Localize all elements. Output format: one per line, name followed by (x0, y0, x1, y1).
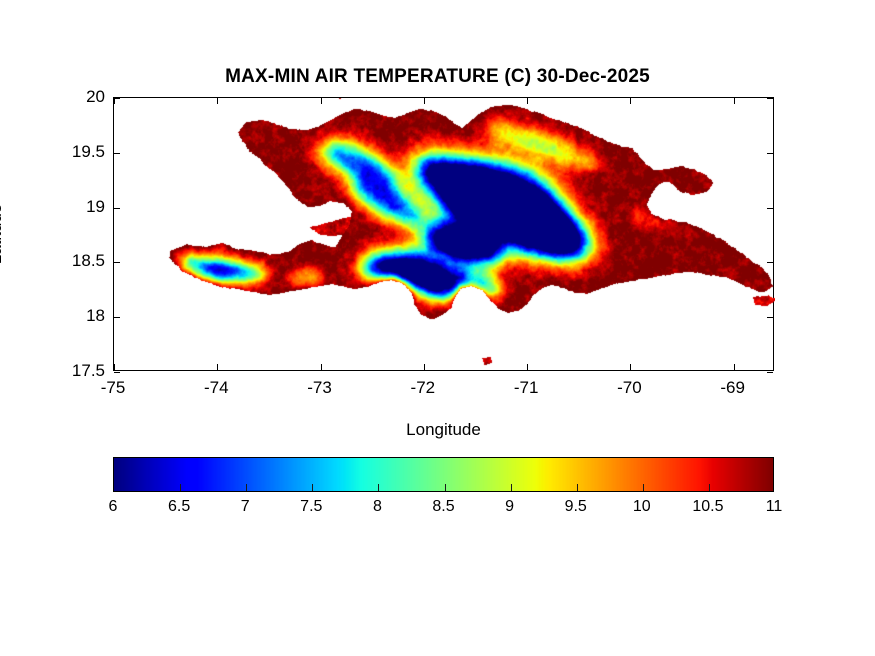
colorbar-tick (246, 484, 247, 491)
y-tick (114, 98, 120, 99)
x-tick (321, 364, 322, 370)
colorbar-tick (312, 484, 313, 491)
colorbar-tick-label: 9 (505, 498, 514, 516)
y-tick (767, 98, 773, 99)
x-tick (527, 364, 528, 370)
y-tick-label: 18.5 (55, 251, 105, 271)
y-tick-label: 17.5 (55, 361, 105, 381)
x-tick-label: -73 (307, 378, 332, 398)
x-tick (527, 98, 528, 104)
colorbar-gradient (114, 458, 773, 491)
x-tick (734, 98, 735, 104)
y-tick (114, 372, 120, 373)
figure-canvas: MAX-MIN AIR TEMPERATURE (C) 30-Dec-2025 … (0, 0, 875, 656)
colorbar-tick-label: 11 (766, 498, 783, 516)
y-axis-title: Latitude (0, 204, 6, 265)
colorbar-tick (445, 484, 446, 491)
temperature-heatmap (114, 98, 775, 372)
x-tick (321, 98, 322, 104)
colorbar-tick-label: 6 (109, 498, 118, 516)
colorbar-tick (180, 484, 181, 491)
x-tick (114, 364, 115, 370)
x-tick (217, 364, 218, 370)
y-tick (114, 262, 120, 263)
colorbar-tick (709, 484, 710, 491)
x-tick-label: -71 (514, 378, 539, 398)
x-tick (630, 364, 631, 370)
y-tick (767, 262, 773, 263)
x-tick (630, 98, 631, 104)
colorbar-tick-label: 10.5 (692, 498, 723, 516)
colorbar-tick (511, 484, 512, 491)
x-tick (424, 364, 425, 370)
x-tick-label: -72 (411, 378, 436, 398)
colorbar-tick-label: 9.5 (565, 498, 587, 516)
colorbar-tick-label: 8 (373, 498, 382, 516)
x-tick-label: -74 (204, 378, 229, 398)
x-tick (424, 98, 425, 104)
y-tick (767, 153, 773, 154)
colorbar-tick-label: 6.5 (168, 498, 190, 516)
y-tick (767, 208, 773, 209)
map-axes (113, 97, 774, 371)
colorbar-tick-label: 10 (633, 498, 651, 516)
y-tick-label: 18 (55, 306, 105, 326)
colorbar-tick (378, 484, 379, 491)
colorbar-tick (643, 484, 644, 491)
colorbar-tick (577, 484, 578, 491)
colorbar-tick-label: 7 (241, 498, 250, 516)
chart-title: MAX-MIN AIR TEMPERATURE (C) 30-Dec-2025 (0, 66, 875, 88)
y-tick (114, 208, 120, 209)
x-tick-label: -70 (617, 378, 642, 398)
x-axis-title: Longitude (113, 420, 774, 440)
x-tick-label: -69 (720, 378, 745, 398)
colorbar-tick-label: 8.5 (432, 498, 454, 516)
x-tick-label: -75 (101, 378, 126, 398)
colorbar-tick-label: 7.5 (300, 498, 322, 516)
x-tick (217, 98, 218, 104)
y-tick-label: 20 (55, 87, 105, 107)
y-tick-label: 19.5 (55, 142, 105, 162)
y-tick (114, 317, 120, 318)
y-tick (767, 317, 773, 318)
y-tick-label: 19 (55, 197, 105, 217)
x-tick (734, 364, 735, 370)
colorbar (113, 457, 774, 492)
y-tick (114, 153, 120, 154)
y-tick (767, 372, 773, 373)
